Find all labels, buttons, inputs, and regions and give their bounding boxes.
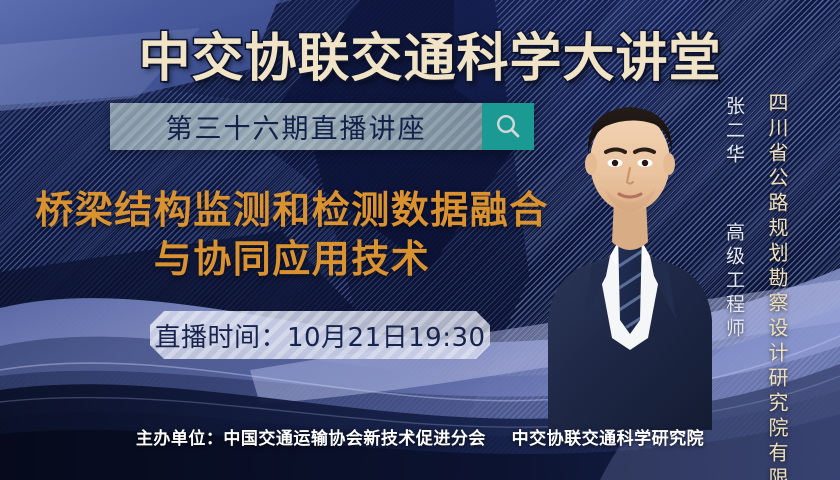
search-icon [493,112,523,142]
webinar-poster: 中交协联交通科学大讲堂 第三十六期直播讲座 桥梁结构监测和检测数据融合 与协同应… [0,0,840,480]
live-time-text: 直播时间：10月21日19:30 [154,317,485,354]
speaker-name-title: 张二华 高级工程师 [721,96,748,342]
speaker-organization: 四川省公路规划勘察设计研究院有限公司 [763,92,792,480]
episode-search-bar[interactable]: 第三十六期直播讲座 [110,103,534,150]
footer: 主办单位：中国交通运输协会新技术促进分会 中交协联交通科学研究院 [0,424,840,449]
lecture-title-line-1: 桥梁结构监测和检测数据融合 [18,186,566,235]
search-button[interactable] [482,103,534,150]
lecture-title-line-2: 与协同应用技术 [18,235,566,284]
footer-organizers-text: 主办单位：中国交通运输协会新技术促进分会 中交协联交通科学研究院 [136,429,704,449]
lecture-title: 桥梁结构监测和检测数据融合 与协同应用技术 [18,186,566,283]
page-title: 中交协联交通科学大讲堂 [0,16,840,91]
episode-label-field: 第三十六期直播讲座 [110,103,482,150]
episode-label-text: 第三十六期直播讲座 [166,107,427,146]
live-time-badge: 直播时间：10月21日19:30 [150,311,490,359]
